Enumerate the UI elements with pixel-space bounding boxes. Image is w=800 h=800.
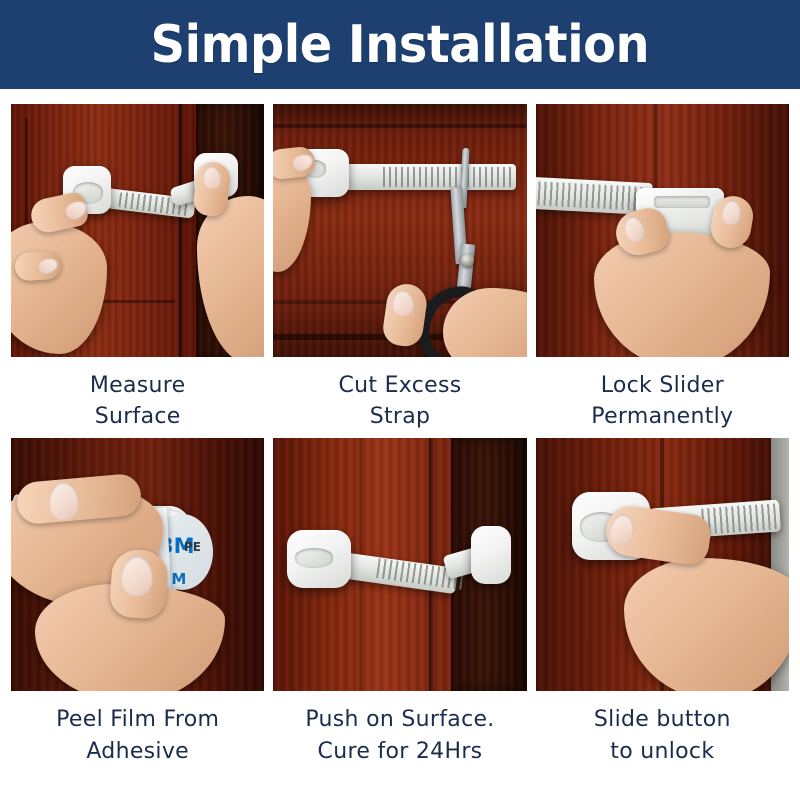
caption-line: Surface [90,401,186,432]
adhesive-sub-label: PE [184,541,201,553]
peeling-fingernail [120,556,153,597]
right-hand [624,558,789,691]
step-card-6: Slide button to unlock [536,438,789,772]
caption-line: Adhesive [56,736,219,767]
step-card-3: Lock Slider Permanently [536,104,789,438]
infographic-page: Simple Installation [0,0,800,800]
steps-grid: Measure Surface [11,104,789,773]
step-photo-6 [536,438,789,691]
drawer-groove-top [273,124,526,128]
header-banner: Simple Installation [0,0,800,89]
caption-line: Cure for 24Hrs [305,736,494,767]
step-card-5: Push on Surface. Cure for 24Hrs [273,438,526,772]
step-caption-6: Slide button to unlock [594,691,731,772]
caption-line: Measure [90,370,186,401]
step-card-2: Cut Excess Strap [273,104,526,438]
step-caption-1: Measure Surface [90,357,186,438]
step-caption-3: Lock Slider Permanently [591,357,733,438]
caption-line: Cut Excess [338,370,461,401]
step-photo-5 [273,438,526,691]
step-card-1: Measure Surface [11,104,264,438]
step-photo-1 [11,104,264,357]
caption-line: to unlock [594,736,731,767]
step-caption-5: Push on Surface. Cure for 24Hrs [305,691,494,772]
slider-latch [654,196,710,208]
caption-line: Push on Surface. [305,704,494,735]
step-photo-3 [536,104,789,357]
step-card-4: 3M PE 3M Peel Film From Adhesive [11,438,264,772]
step-photo-4: 3M PE 3M [11,438,264,691]
caption-line: Peel Film From [56,704,219,735]
caption-line: Strap [338,401,461,432]
lock-base-right [471,526,511,584]
caption-line: Slide button [594,704,731,735]
caption-line: Permanently [591,401,733,432]
step-caption-4: Peel Film From Adhesive [56,691,219,772]
step-photo-2 [273,104,526,357]
right-hand [594,232,770,357]
strap-ribs [383,167,511,187]
caption-line: Lock Slider [591,370,733,401]
page-title: Simple Installation [151,19,649,71]
step-caption-2: Cut Excess Strap [338,357,461,438]
cabinet-corner-edge [179,104,184,357]
